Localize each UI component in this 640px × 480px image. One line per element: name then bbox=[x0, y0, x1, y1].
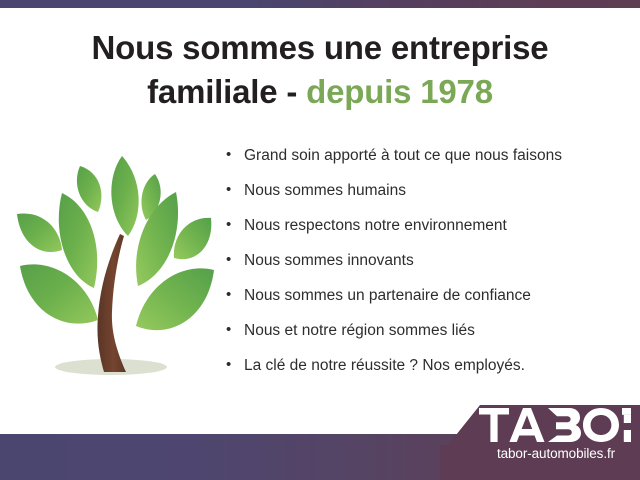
page-title: Nous sommes une entreprise familiale - d… bbox=[28, 26, 612, 114]
list-item: Nous sommes innovants bbox=[222, 253, 622, 269]
tree-leaf bbox=[174, 218, 211, 259]
top-accent-bar bbox=[0, 0, 640, 8]
tree-leaf bbox=[111, 156, 138, 236]
logo-letter-o bbox=[583, 408, 619, 442]
list-item: La clé de notre réussite ? Nos employés. bbox=[222, 358, 622, 374]
list-item: Nous sommes un partenaire de confiance bbox=[222, 288, 622, 304]
list-item: Nous et notre région sommes liés bbox=[222, 323, 622, 339]
tree-illustration bbox=[8, 148, 223, 388]
list-item: Nous respectons notre environnement bbox=[222, 218, 622, 234]
benefits-list: Grand soin apporté à tout ce que nous fa… bbox=[222, 148, 622, 393]
logo-letter-a bbox=[509, 408, 544, 442]
logo-tagline: tabor-automobiles.fr bbox=[480, 446, 632, 461]
logo-letter-t bbox=[479, 408, 509, 442]
headline-line-2-accent: depuis 1978 bbox=[306, 73, 493, 110]
headline-line-1: Nous sommes une entreprise bbox=[92, 29, 549, 66]
slide-canvas: Nous sommes une entreprise familiale - d… bbox=[0, 0, 640, 480]
logo-letter-r-bowl bbox=[622, 408, 631, 415]
tree-trunk bbox=[97, 234, 126, 372]
list-item: Grand soin apporté à tout ce que nous fa… bbox=[222, 148, 622, 164]
tree-leaf bbox=[17, 213, 62, 252]
logo-letter-b bbox=[548, 408, 581, 442]
headline-line-2-plain: familiale - bbox=[147, 73, 306, 110]
brand-logo[interactable]: tabor-automobiles.fr bbox=[440, 400, 640, 480]
list-item: Nous sommes humains bbox=[222, 183, 622, 199]
tree-leaf bbox=[77, 166, 102, 212]
